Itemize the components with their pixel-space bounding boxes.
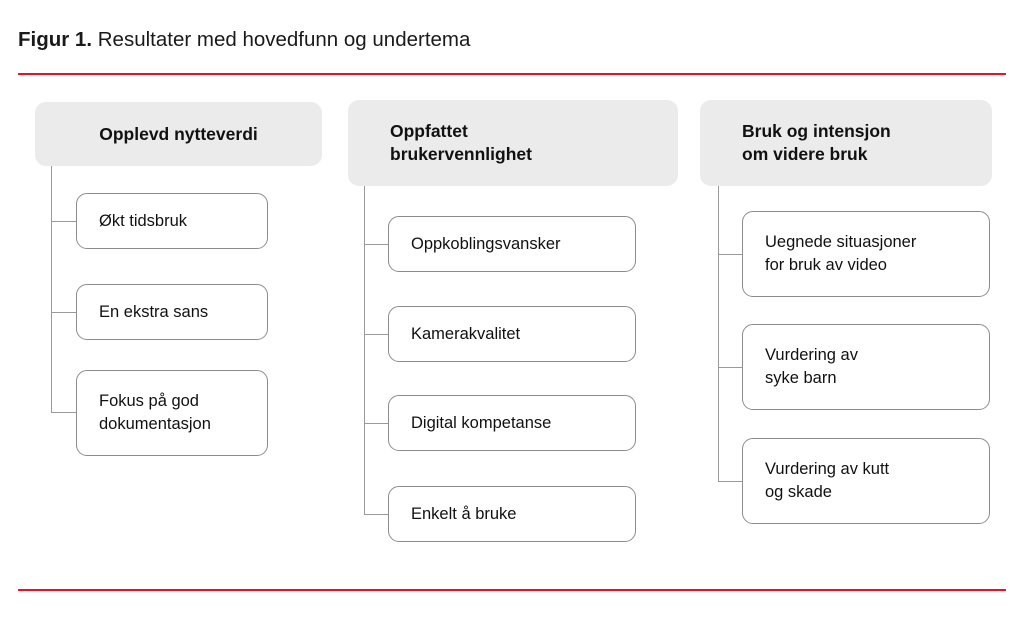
connector-trunk-column-3 — [718, 186, 719, 482]
subtopic-line: Økt tidsbruk — [99, 210, 255, 233]
subtopic-box[interactable]: Uegnede situasjoner for bruk av video — [742, 211, 990, 297]
theme-header-line: Bruk og intensjon — [742, 120, 891, 143]
theme-header-line: Oppfattet — [390, 120, 468, 143]
subtopic-line: Fokus på god — [99, 390, 255, 413]
subtopic-box[interactable]: Vurdering av syke barn — [742, 324, 990, 410]
subtopic-line: Kamerakvalitet — [411, 323, 623, 346]
subtopic-box[interactable]: Digital kompetanse — [388, 395, 636, 451]
subtopic-box[interactable]: Oppkoblingsvansker — [388, 216, 636, 272]
theme-header-oppfattet-brukervennlighet[interactable]: Oppfattet brukervennlighet — [348, 100, 678, 186]
subtopic-line: syke barn — [765, 367, 977, 390]
subtopic-box[interactable]: Enkelt å bruke — [388, 486, 636, 542]
connector-trunk-column-1 — [51, 166, 52, 412]
subtopic-line: Uegnede situasjoner — [765, 231, 977, 254]
subtopic-line: Oppkoblingsvansker — [411, 233, 623, 256]
connector-branch-1-3 — [51, 412, 76, 413]
theme-header-line: brukervennlighet — [390, 143, 532, 166]
connector-branch-3-3 — [718, 481, 742, 482]
theme-header-bruk-og-intensjon[interactable]: Bruk og intensjon om videre bruk — [700, 100, 992, 186]
connector-branch-3-2 — [718, 367, 742, 368]
subtopic-line: og skade — [765, 481, 977, 504]
subtopic-line: Vurdering av kutt — [765, 458, 977, 481]
results-hierarchy-diagram: Opplevd nytteverdi Økt tidsbruk En ekstr… — [0, 0, 1024, 618]
connector-branch-2-1 — [364, 244, 388, 245]
connector-branch-1-2 — [51, 312, 76, 313]
subtopic-box[interactable]: Fokus på god dokumentasjon — [76, 370, 268, 456]
theme-header-line: Opplevd nytteverdi — [99, 123, 258, 146]
subtopic-line: Enkelt å bruke — [411, 503, 623, 526]
connector-branch-2-4 — [364, 514, 388, 515]
connector-branch-1-1 — [51, 221, 76, 222]
subtopic-line: for bruk av video — [765, 254, 977, 277]
subtopic-box[interactable]: Kamerakvalitet — [388, 306, 636, 362]
subtopic-box[interactable]: Vurdering av kutt og skade — [742, 438, 990, 524]
subtopic-line: Digital kompetanse — [411, 412, 623, 435]
theme-header-opplevd-nytteverdi[interactable]: Opplevd nytteverdi — [35, 102, 322, 166]
subtopic-line: dokumentasjon — [99, 413, 255, 436]
subtopic-box[interactable]: Økt tidsbruk — [76, 193, 268, 249]
subtopic-line: En ekstra sans — [99, 301, 255, 324]
theme-header-line: om videre bruk — [742, 143, 867, 166]
connector-trunk-column-2 — [364, 186, 365, 514]
subtopic-box[interactable]: En ekstra sans — [76, 284, 268, 340]
connector-branch-3-1 — [718, 254, 742, 255]
subtopic-line: Vurdering av — [765, 344, 977, 367]
connector-branch-2-3 — [364, 423, 388, 424]
connector-branch-2-2 — [364, 334, 388, 335]
